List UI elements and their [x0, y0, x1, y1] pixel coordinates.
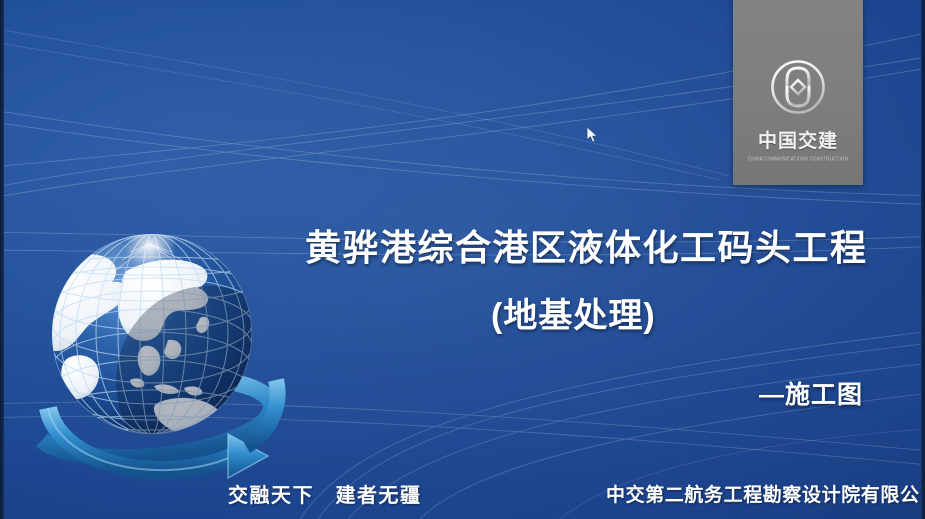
page-title: 黄骅港综合港区液体化工码头工程 — [305, 219, 868, 271]
cccc-compass-interchange-icon — [761, 50, 835, 124]
cccc-logo-plate: 中国交建 CHINA COMMUNICATIONS CONSTRUCTION — [733, 0, 863, 185]
mouse-pointer-icon — [586, 126, 598, 144]
slide-edge-right — [921, 0, 925, 519]
logo-name-cn: 中国交建 — [758, 132, 838, 151]
logo-name-en: CHINA COMMUNICATIONS CONSTRUCTION — [748, 155, 848, 161]
page-subtitle: (地基处理) — [491, 288, 656, 337]
drawing-stage-note: —施工图 — [759, 375, 863, 411]
company-name: 中交第二航务工程勘察设计院有限公司 — [606, 480, 925, 507]
presentation-slide: 中国交建 CHINA COMMUNICATIONS CONSTRUCTION 黄… — [0, 0, 925, 519]
globe-graphic — [32, 222, 300, 490]
slide-edge-left — [0, 0, 4, 519]
company-slogan: 交融天下 建者无疆 — [228, 479, 422, 508]
